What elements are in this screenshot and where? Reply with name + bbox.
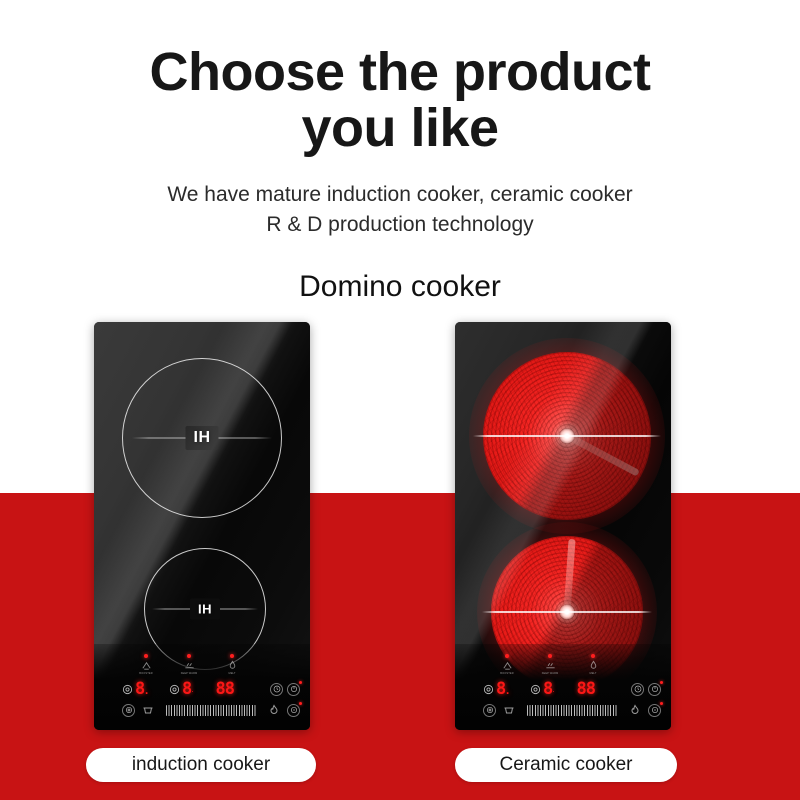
indicator-label: BOOSTER [139,673,152,676]
display-superscript-icon: . [191,685,193,694]
control-panel[interactable]: BOOSTER KEEP WARM MELT [455,644,671,730]
zone-label-ih-bottom: IH [191,602,219,617]
induction-cooktop[interactable]: IH IH BOOSTER [94,322,310,730]
keepwarm-icon [544,660,557,671]
zone-center-rule [473,435,661,437]
power-button[interactable] [648,683,661,696]
decimal-point-icon: . [144,679,149,699]
label-ceramic-cooker[interactable]: Ceramic cooker [455,748,677,782]
zone-label-ih-top: IH [187,429,218,447]
page-title: Choose the product you like [0,0,800,156]
display-row: 8 . 8 . 88 [122,679,300,699]
led-indicator-icon [230,654,234,658]
burner-front-icon [483,684,494,695]
indicator-keep-warm[interactable]: KEEP WARM [538,654,562,676]
timer-display: 88 [576,681,594,698]
settings-button[interactable] [483,704,496,717]
led-indicator-icon [591,654,595,658]
indicator-label: KEEP WARM [542,673,559,676]
boost-flame-icon[interactable] [268,704,280,716]
indicator-label: KEEP WARM [181,673,198,676]
indicator-label: BOOSTER [500,673,513,676]
power-level-display-left: 8 [135,681,144,698]
lock-led-icon [299,702,302,705]
lock-button[interactable] [648,704,661,717]
power-button[interactable] [287,683,300,696]
ceramic-zone-top[interactable] [483,352,651,520]
zone-center-rule [482,611,652,613]
label-induction-cooker[interactable]: induction cooker [86,748,316,782]
subtitle-line-1: We have mature induction cooker, ceramic… [0,180,800,210]
display-row: 8 . 8 . 88 [483,679,661,699]
lock-button[interactable] [287,704,300,717]
control-panel[interactable]: BOOSTER KEEP WARM MELT [94,644,310,730]
pot-icon[interactable] [142,704,154,716]
power-level-display-right: 8 [543,681,552,698]
burner-rear-icon [530,684,541,695]
melt-icon [587,660,600,671]
indicator-melt[interactable]: MELT [220,654,244,676]
boost-flame-icon[interactable] [629,704,641,716]
timer-icon[interactable] [631,683,644,696]
subtitle: We have mature induction cooker, ceramic… [0,180,800,240]
power-level-display-left: 8 [496,681,505,698]
headline-line-1: Choose the product [150,42,651,102]
headline-line-2: you like [0,100,800,156]
power-level-display-right: 8 [182,681,191,698]
subtitle-line-2: R & D production technology [0,210,800,240]
function-indicators: BOOSTER KEEP WARM MELT [134,654,244,676]
led-indicator-icon [548,654,552,658]
boost-icon [501,660,514,671]
indicator-label: MELT [228,673,235,676]
pot-icon[interactable] [503,704,515,716]
led-indicator-icon [187,654,191,658]
decimal-point-icon: . [505,679,510,699]
ceramic-cooktop[interactable]: BOOSTER KEEP WARM MELT [455,322,671,730]
keepwarm-icon [183,660,196,671]
slider-row[interactable] [122,702,300,718]
section-title: Domino cooker [0,270,800,304]
power-slider[interactable] [527,705,617,716]
timer-icon[interactable] [270,683,283,696]
timer-controls[interactable] [631,683,661,696]
burner-rear-icon [169,684,180,695]
power-led-icon [660,681,663,684]
burner-front-icon [122,684,133,695]
header: Choose the product you like We have matu… [0,0,800,304]
induction-zone-top[interactable]: IH [122,358,282,518]
indicator-booster[interactable]: BOOSTER [495,654,519,676]
slider-row[interactable] [483,702,661,718]
power-led-icon [299,681,302,684]
function-indicators: BOOSTER KEEP WARM MELT [495,654,605,676]
timer-display: 88 [215,681,233,698]
indicator-melt[interactable]: MELT [581,654,605,676]
timer-controls[interactable] [270,683,300,696]
boost-icon [140,660,153,671]
led-indicator-icon [505,654,509,658]
indicator-booster[interactable]: BOOSTER [134,654,158,676]
melt-icon [226,660,239,671]
indicator-label: MELT [589,673,596,676]
power-slider[interactable] [166,705,256,716]
indicator-keep-warm[interactable]: KEEP WARM [177,654,201,676]
led-indicator-icon [144,654,148,658]
lock-led-icon [660,702,663,705]
settings-button[interactable] [122,704,135,717]
display-superscript-icon: . [552,685,554,694]
